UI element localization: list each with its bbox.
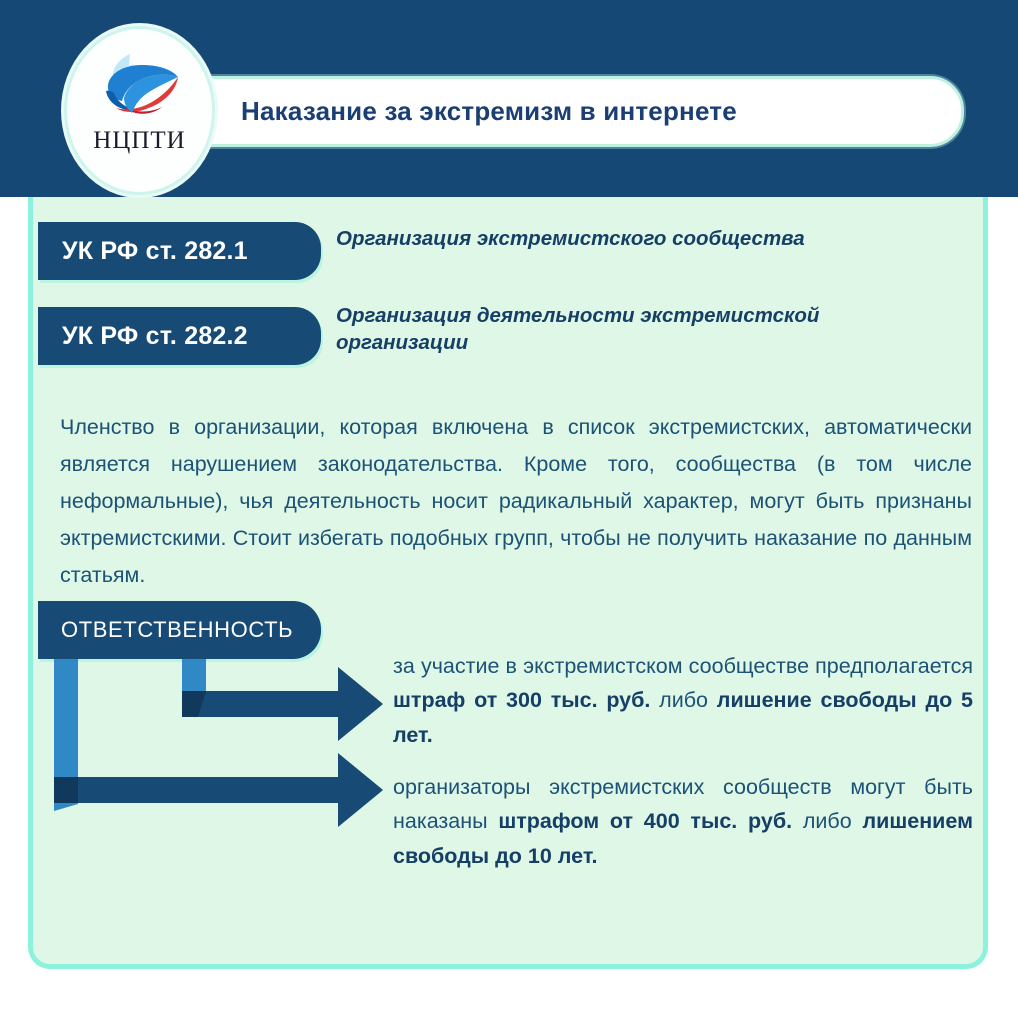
responsibility-badge[interactable]: ОТВЕТСТВЕННОСТЬ <box>38 601 321 659</box>
title-pill: Наказание за экстремизм в интернете <box>133 76 964 147</box>
page-title: Наказание за экстремизм в интернете <box>241 96 737 127</box>
article-description-282-2: Организация деятельности экстремистской … <box>336 302 896 357</box>
article-badge-282-1[interactable]: УК РФ ст. 282.1 <box>38 222 321 280</box>
flow-branch-stub-icon <box>182 659 206 691</box>
lower-arrow-bevel-icon <box>54 777 78 803</box>
nctpi-flame-globe-logo-icon <box>94 51 186 125</box>
upper-arrow-icon <box>182 667 383 741</box>
item-1-text-middle: либо <box>650 688 716 712</box>
body-paragraph: Членство в организации, которая включена… <box>60 409 972 594</box>
article-badge-282-2[interactable]: УК РФ ст. 282.2 <box>38 307 321 365</box>
responsibility-item-2: организаторы экстремистских сообществ мо… <box>393 770 973 873</box>
article-badge-label: УК РФ ст. 282.1 <box>62 237 248 266</box>
item-1-text-before: за участие в экстремистском сообществе п… <box>393 654 973 678</box>
responsibility-badge-label: ОТВЕТСТВЕННОСТЬ <box>61 617 293 643</box>
header-bar: НЦПТИ Наказание за экстремизм в интернет… <box>0 0 1018 197</box>
article-badge-label: УК РФ ст. 282.2 <box>62 322 248 351</box>
item-2-text-middle: либо <box>792 809 862 833</box>
lower-arrow-icon <box>54 753 383 827</box>
logo-badge: НЦПТИ <box>64 26 215 195</box>
logo-acronym: НЦПТИ <box>93 127 186 155</box>
item-1-bold-1: штраф от 300 тыс. руб. <box>393 688 650 712</box>
content-panel: УК РФ ст. 282.1 Организация экстремистск… <box>28 197 988 969</box>
item-2-bold-1: штрафом от 400 тыс. руб. <box>498 809 792 833</box>
responsibility-item-1: за участие в экстремистском сообществе п… <box>393 649 973 752</box>
article-description-282-1: Организация экстремистского сообщества <box>336 225 956 252</box>
responsibility-flow-arrows <box>38 659 398 837</box>
infographic-poster: НЦПТИ Наказание за экстремизм в интернет… <box>0 0 1018 1024</box>
